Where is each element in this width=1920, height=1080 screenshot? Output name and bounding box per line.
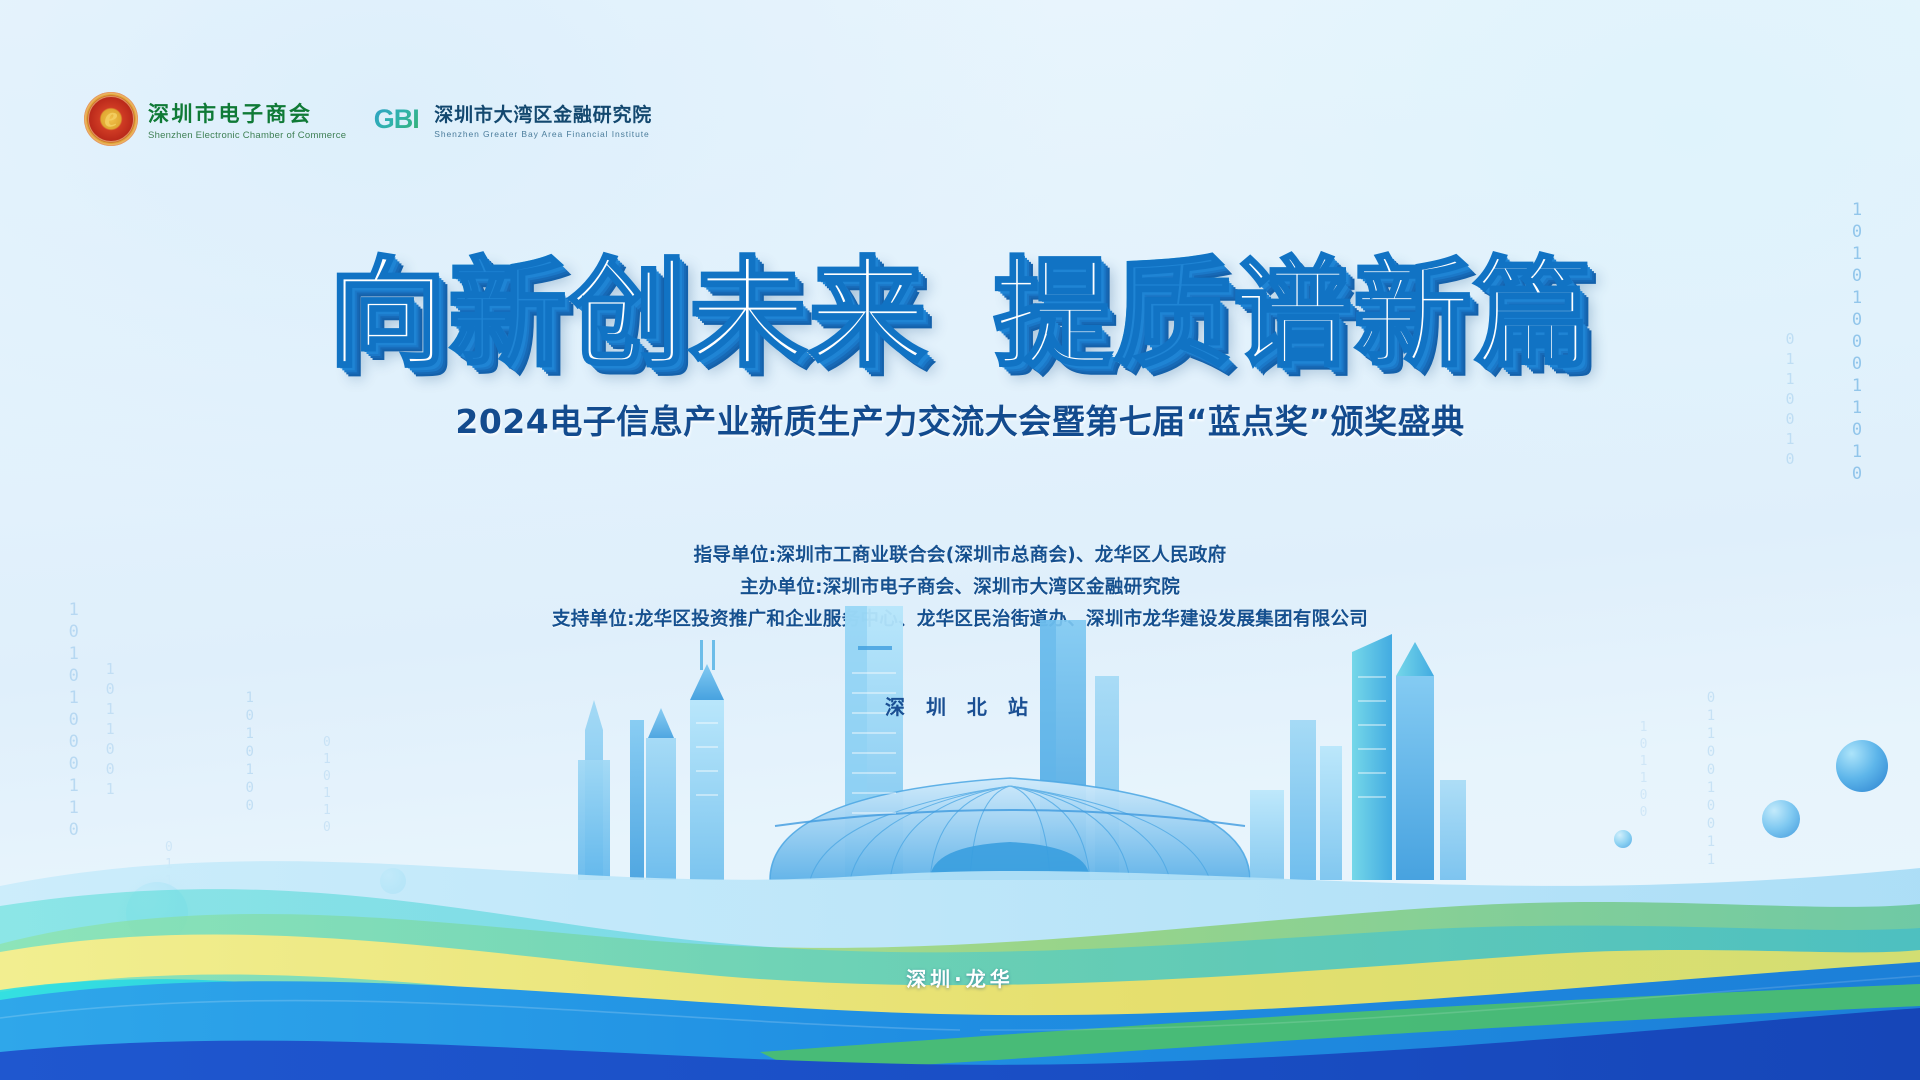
seal-emblem-icon	[84, 92, 138, 146]
headline-char: 新	[1354, 255, 1472, 373]
logo-title-en: Shenzhen Electronic Chamber of Commerce	[148, 130, 346, 141]
logo-title-cn: 深圳市电子商会	[148, 98, 346, 128]
headline-char: 向	[328, 255, 446, 373]
logo-title-en: Shenzhen Greater Bay Area Financial Inst…	[434, 129, 652, 139]
headline-char: 创	[569, 255, 687, 373]
headline-char: 新	[448, 255, 566, 373]
organizer-line-guidance: 指导单位:深圳市工商业联合会(深圳市总商会)、龙华区人民政府	[0, 540, 1920, 572]
headline: 向新创未来 提质谱新篇	[0, 255, 1920, 373]
event-subtitle: 2024电子信息产业新质生产力交流大会暨第七届“蓝点奖”颁奖盛典	[0, 395, 1920, 443]
headline-part-two: 提质谱新篇	[992, 342, 1592, 359]
banner-canvas: 10101000110 1011001 1010100 010110 10101…	[0, 0, 1920, 1080]
headline-char: 提	[993, 255, 1111, 373]
headline-char: 质	[1113, 255, 1231, 373]
headline-char: 来	[809, 255, 927, 373]
gbi-logo-icon: GBI	[368, 99, 424, 139]
logo-gbi-institute: GBI 深圳市大湾区金融研究院 Shenzhen Greater Bay Are…	[368, 99, 652, 139]
logo-bar: 深圳市电子商会 Shenzhen Electronic Chamber of C…	[84, 92, 652, 146]
headline-char: 谱	[1233, 255, 1351, 373]
headline-part-one: 向新创未来	[327, 342, 927, 359]
headline-char: 篇	[1474, 255, 1592, 373]
logo-shenzhen-electronic-chamber: 深圳市电子商会 Shenzhen Electronic Chamber of C…	[84, 92, 346, 146]
city-label: 深圳·龙华	[0, 963, 1920, 992]
logo-title-cn: 深圳市大湾区金融研究院	[434, 100, 652, 127]
headline-char: 未	[689, 255, 807, 373]
wave-decoration	[0, 700, 1920, 1080]
